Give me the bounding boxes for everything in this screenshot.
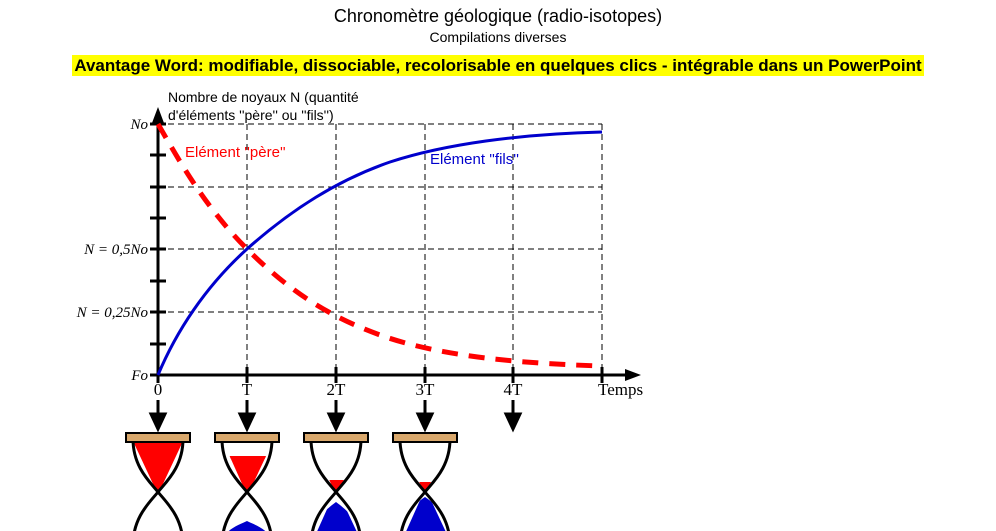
y-axis	[150, 107, 166, 375]
x-tick-label-4t: 4T	[504, 380, 524, 399]
figure-container: Nombre de noyaux N (quantité d'éléments …	[0, 82, 996, 531]
y-axis-title-line2: d'éléments ''père'' ou ''fils'')	[168, 107, 334, 123]
arrow-4T	[506, 400, 520, 429]
hourglass-3T	[393, 433, 457, 531]
arrow-2T	[329, 400, 343, 429]
hourglass-arrows	[151, 400, 520, 429]
x-tick-label-t: T	[242, 380, 253, 399]
y-tick-label-quarter: N = 0,25No	[76, 305, 149, 321]
arrow-0	[151, 400, 165, 429]
curve-label-daughter: Elément ''fils''	[430, 151, 519, 168]
x-axis	[158, 367, 641, 383]
x-axis-label-temps: Temps	[598, 380, 643, 399]
x-tick-label-3t: 3T	[416, 380, 436, 399]
y-tick-label-half: N = 0,5No	[83, 242, 148, 258]
x-tick-label-2t: 2T	[327, 380, 347, 399]
y-tick-label-fo: Fo	[130, 368, 148, 384]
y-tick-label-no: No	[129, 117, 148, 133]
header-titles: Chronomètre géologique (radio-isotopes) …	[0, 0, 996, 47]
hourglass-0	[126, 433, 190, 531]
curve-daughter	[158, 132, 602, 375]
page-subtitle: Compilations diverses	[0, 28, 996, 47]
curve-label-parent: Elément ''père''	[185, 144, 286, 161]
x-tick-label-0: 0	[154, 380, 163, 399]
page-title: Chronomètre géologique (radio-isotopes)	[0, 0, 996, 28]
y-axis-title-line1: Nombre de noyaux N (quantité	[168, 89, 359, 105]
highlight-banner: Avantage Word: modifiable, dissociable, …	[0, 52, 996, 80]
hourglass-T	[215, 433, 279, 531]
arrow-T	[240, 400, 254, 429]
arrow-3T	[418, 400, 432, 429]
banner-text: Avantage Word: modifiable, dissociable, …	[72, 55, 923, 76]
hourglass-2T	[304, 433, 368, 531]
